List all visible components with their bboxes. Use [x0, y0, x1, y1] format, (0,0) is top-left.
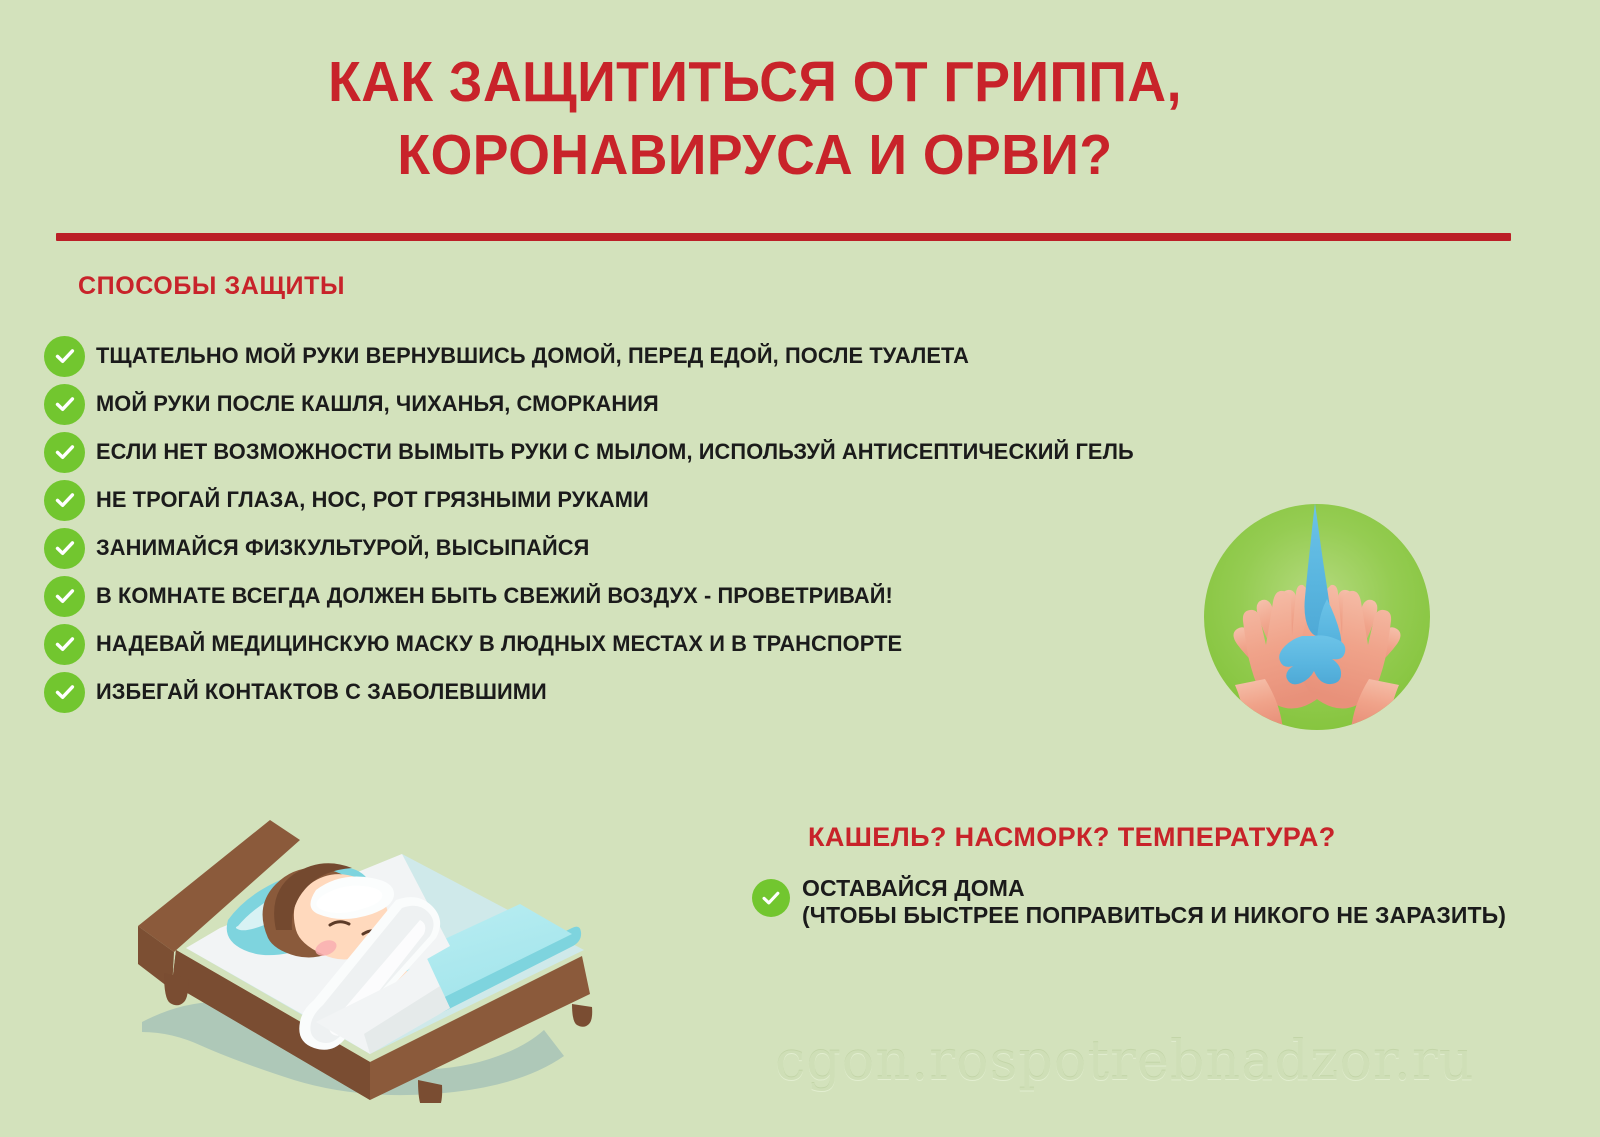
list-item: ТЩАТЕЛЬНО МОЙ РУКИ ВЕРНУВШИСЬ ДОМОЙ, ПЕР… — [44, 332, 1224, 380]
list-item: В КОМНАТЕ ВСЕГДА ДОЛЖЕН БЫТЬ СВЕЖИЙ ВОЗД… — [44, 572, 1224, 620]
check-circle-icon — [44, 336, 85, 377]
check-circle-icon — [44, 528, 85, 569]
site-watermark: cgon.rospotrebnadzor.ru — [775, 1029, 1475, 1092]
list-item-label: НЕ ТРОГАЙ ГЛАЗА, НОС, РОТ ГРЯЗНЫМИ РУКАМ… — [96, 487, 649, 513]
protection-list: ТЩАТЕЛЬНО МОЙ РУКИ ВЕРНУВШИСЬ ДОМОЙ, ПЕР… — [44, 332, 1224, 716]
check-circle-icon — [44, 432, 85, 473]
title-line-1: КАК ЗАЩИТИТЬСЯ ОТ ГРИППА, — [45, 46, 1464, 119]
list-item: НЕ ТРОГАЙ ГЛАЗА, НОС, РОТ ГРЯЗНЫМИ РУКАМ… — [44, 476, 1224, 524]
list-item-label: ТЩАТЕЛЬНО МОЙ РУКИ ВЕРНУВШИСЬ ДОМОЙ, ПЕР… — [96, 343, 969, 369]
title-divider-rule — [56, 233, 1511, 241]
list-item-label: ЕСЛИ НЕТ ВОЗМОЖНОСТИ ВЫМЫТЬ РУКИ С МЫЛОМ… — [96, 439, 1134, 465]
stay-home-advice: ОСТАВАЙСЯ ДОМА (ЧТОБЫ БЫСТРЕЕ ПОПРАВИТЬС… — [752, 875, 1512, 929]
check-circle-icon — [44, 624, 85, 665]
protection-section-heading: СПОСОБЫ ЗАЩИТЫ — [78, 272, 345, 301]
stay-home-note: (ЧТОБЫ БЫСТРЕЕ ПОПРАВИТЬСЯ И НИКОГО НЕ З… — [802, 902, 1506, 928]
check-circle-icon — [44, 384, 85, 425]
list-item-label: МОЙ РУКИ ПОСЛЕ КАШЛЯ, ЧИХАНЬЯ, СМОРКАНИЯ — [96, 391, 659, 417]
washing-hands-illustration — [1203, 503, 1431, 731]
check-circle-icon — [44, 480, 85, 521]
symptoms-block: КАШЕЛЬ? НАСМОРК? ТЕМПЕРАТУРА? ОСТАВАЙСЯ … — [752, 822, 1512, 929]
symptoms-heading: КАШЕЛЬ? НАСМОРК? ТЕМПЕРАТУРА? — [808, 822, 1512, 853]
poster-root: КАК ЗАЩИТИТЬСЯ ОТ ГРИППА, КОРОНАВИРУСА И… — [0, 0, 1600, 1137]
list-item: ЗАНИМАЙСЯ ФИЗКУЛЬТУРОЙ, ВЫСЫПАЙСЯ — [44, 524, 1224, 572]
list-item: ЕСЛИ НЕТ ВОЗМОЖНОСТИ ВЫМЫТЬ РУКИ С МЫЛОМ… — [44, 428, 1224, 476]
list-item: ИЗБЕГАЙ КОНТАКТОВ С ЗАБОЛЕВШИМИ — [44, 668, 1224, 716]
bed-leg — [572, 1004, 592, 1027]
list-item-label: НАДЕВАЙ МЕДИЦИНСКУЮ МАСКУ В ЛЮДНЫХ МЕСТА… — [96, 631, 902, 657]
list-item: МОЙ РУКИ ПОСЛЕ КАШЛЯ, ЧИХАНЬЯ, СМОРКАНИЯ — [44, 380, 1224, 428]
check-circle-icon — [44, 576, 85, 617]
list-item: НАДЕВАЙ МЕДИЦИНСКУЮ МАСКУ В ЛЮДНЫХ МЕСТА… — [44, 620, 1224, 668]
list-item-label: В КОМНАТЕ ВСЕГДА ДОЛЖЕН БЫТЬ СВЕЖИЙ ВОЗД… — [96, 583, 893, 609]
stay-home-label: ОСТАВАЙСЯ ДОМА — [802, 875, 1025, 901]
title-line-2: КОРОНАВИРУСА И ОРВИ? — [45, 119, 1464, 192]
check-circle-icon — [44, 672, 85, 713]
check-circle-icon — [752, 879, 790, 917]
list-item-label: ЗАНИМАЙСЯ ФИЗКУЛЬТУРОЙ, ВЫСЫПАЙСЯ — [96, 535, 589, 561]
poster-title: КАК ЗАЩИТИТЬСЯ ОТ ГРИППА, КОРОНАВИРУСА И… — [0, 46, 1510, 192]
bed-leg — [164, 973, 188, 1005]
list-item-label: ИЗБЕГАЙ КОНТАКТОВ С ЗАБОЛЕВШИМИ — [96, 679, 547, 705]
sick-child-in-bed-illustration — [120, 808, 620, 1103]
